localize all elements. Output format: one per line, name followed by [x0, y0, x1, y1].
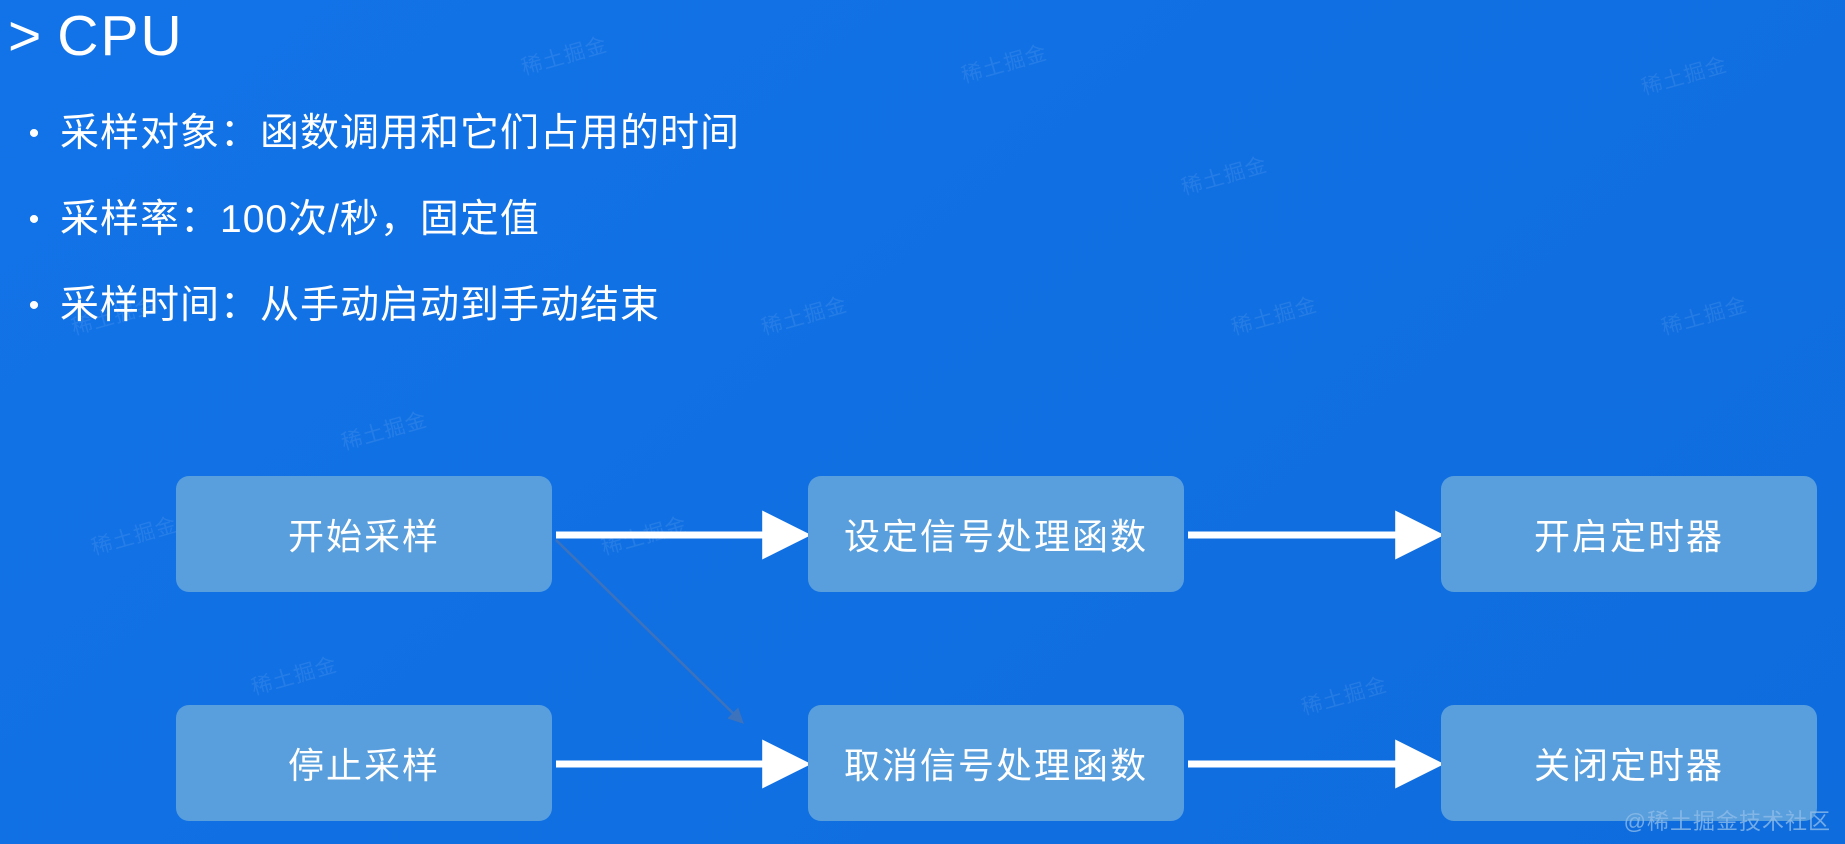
list-item: • 采样时间：从手动启动到手动结束: [8, 280, 1208, 366]
flow-node-label: 关闭定时器: [1534, 737, 1724, 789]
page-title: >CPU: [8, 4, 184, 70]
bullet-dot-icon: •: [8, 194, 60, 246]
watermark-tile: 稀土掘金: [1228, 288, 1321, 341]
page-title-text: CPU: [57, 4, 183, 68]
arrow-start-sampling-to-cancel-handler-diagonal: [556, 540, 742, 722]
watermark-tile: 稀土掘金: [598, 508, 691, 561]
list-item: • 采样对象：函数调用和它们占用的时间: [8, 108, 1208, 194]
flow-node-set-signal-handler[interactable]: 设定信号处理函数: [808, 476, 1184, 592]
flow-node-stop-timer[interactable]: 关闭定时器: [1441, 705, 1817, 821]
flow-node-label: 开始采样: [288, 508, 440, 560]
watermark-tile: 稀土掘金: [958, 36, 1051, 89]
bullet-text: 采样率：100次/秒，固定值: [60, 194, 540, 246]
flow-node-start-sampling[interactable]: 开始采样: [176, 476, 552, 592]
chevron-right-icon: >: [8, 4, 43, 68]
bullet-list: • 采样对象：函数调用和它们占用的时间 • 采样率：100次/秒，固定值 • 采…: [8, 108, 1208, 366]
flow-node-label: 设定信号处理函数: [844, 508, 1148, 560]
flow-node-label: 取消信号处理函数: [844, 737, 1148, 789]
watermark-tile: 稀土掘金: [248, 648, 341, 701]
bullet-dot-icon: •: [8, 280, 60, 332]
bullet-text: 采样时间：从手动启动到手动结束: [60, 280, 660, 332]
watermark-tile: 稀土掘金: [338, 403, 431, 456]
flow-node-start-timer[interactable]: 开启定时器: [1441, 476, 1817, 592]
list-item: • 采样率：100次/秒，固定值: [8, 194, 1208, 280]
flow-node-label: 停止采样: [288, 737, 440, 789]
flow-node-stop-sampling[interactable]: 停止采样: [176, 705, 552, 821]
bullet-text: 采样对象：函数调用和它们占用的时间: [60, 108, 740, 160]
watermark-tile: 稀土掘金: [518, 28, 611, 81]
watermark-tile: 稀土掘金: [1638, 48, 1731, 101]
watermark-tile: 稀土掘金: [1658, 288, 1751, 341]
bullet-dot-icon: •: [8, 108, 60, 160]
slide-canvas: 稀土掘金 稀土掘金 稀土掘金 稀土掘金 稀土掘金 稀土掘金 稀土掘金 稀土掘金 …: [0, 0, 1845, 844]
flow-node-cancel-signal-handler[interactable]: 取消信号处理函数: [808, 705, 1184, 821]
flow-node-label: 开启定时器: [1534, 508, 1724, 560]
watermark-tile: 稀土掘金: [88, 508, 181, 561]
watermark-tile: 稀土掘金: [1298, 668, 1391, 721]
